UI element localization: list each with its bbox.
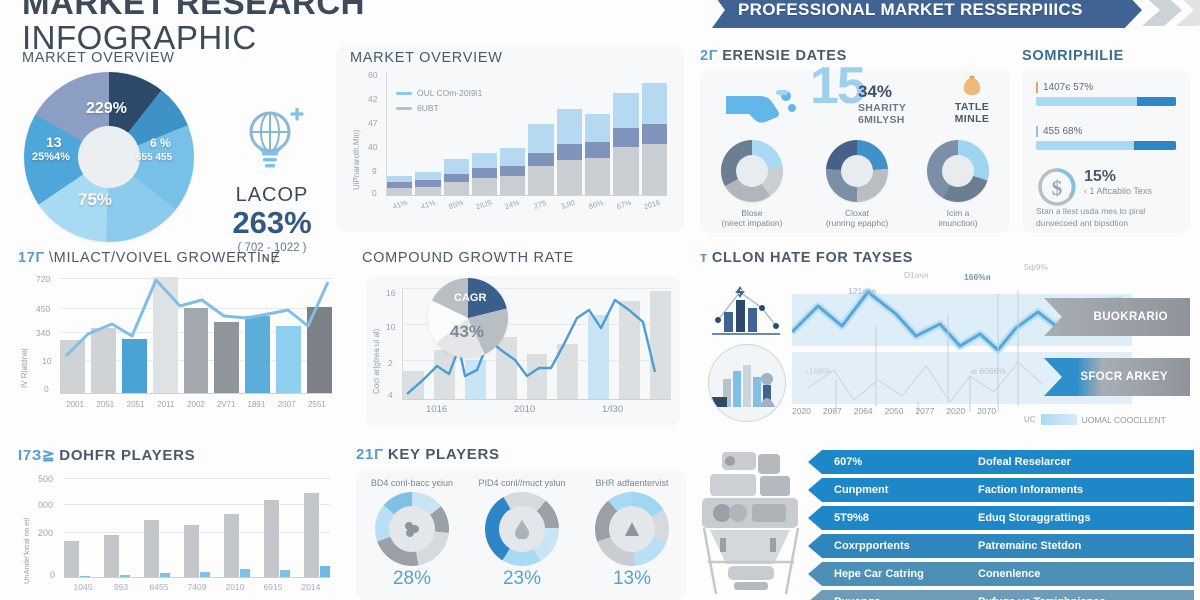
x-tick: 2551 — [302, 400, 332, 409]
donut-block: Blose (nirect impation) — [714, 140, 790, 228]
legend-label: UOMAL COOCLLENT — [1082, 415, 1166, 425]
section-title-prefix: 2Γ — [700, 48, 718, 64]
bar-grey — [224, 514, 239, 578]
section-title-prefix: 21Γ — [356, 446, 384, 463]
money-bag-icon — [962, 74, 982, 96]
x-tick: 2070 — [977, 406, 1008, 416]
progress-fill-accent — [1137, 97, 1176, 106]
x-tick: 2V71 — [211, 400, 241, 409]
bar-pair — [64, 478, 90, 578]
list-item-left: Coxrpportents — [808, 540, 978, 552]
section-title: 17Γ\MILACT/VOIVEL GROWERTIɴɆ — [18, 250, 338, 266]
legend: UC UOMAL COOCLLENT — [1024, 414, 1166, 425]
x-tick: 2020 — [946, 406, 977, 416]
donut-caption-2: (runring epaphc) — [814, 218, 900, 228]
market-overview-pie-panel: MARKET OVERVIEW 229% 6 % 655 455 13 25%4… — [22, 50, 332, 240]
section-title: тCLLON HATE FOR TAYSES — [700, 250, 1190, 266]
x-tick: 2011 — [151, 400, 181, 409]
badge-line-2: MINLE — [944, 113, 1000, 125]
trend-line — [60, 276, 332, 394]
somriphilie-panel: SOMRIPHILIE 1407є 57% 455 68% — [1022, 48, 1190, 233]
y-tick: 720 — [36, 274, 50, 284]
clion-rate-panel: тCLLON HATE FOR TAYSES — [700, 250, 1190, 430]
bar-pair — [224, 478, 250, 578]
arrow-bar: SFOCR ARKEY — [1044, 358, 1190, 396]
section-title: MARKET OVERVIEW — [350, 50, 503, 66]
cluster-icon — [402, 519, 422, 539]
list-item[interactable]: 607% Dofeal Reselarcer — [808, 450, 1194, 474]
gauge-block: PID4 conl//muct yslun 23% — [470, 478, 574, 590]
donut-caption-1: Cloxat — [814, 208, 900, 218]
annotation: 121аря — [848, 286, 876, 296]
demographics-card: 15 34% SHARITY 6MILYSH TATLE MINLE — [700, 70, 1010, 233]
bar-grey — [184, 525, 199, 578]
banner-shape: PROFESSIONAL MARKET RESSERPIIICS — [712, 0, 1142, 28]
pie-label: 25%4% — [32, 151, 70, 163]
x-axis: 2020 2087 2064 2050 2077 2020 2070 — [792, 406, 1008, 416]
bar-group — [585, 114, 610, 196]
x-tick: 2002 — [181, 400, 211, 409]
demographics-panel: 2ΓERENSIE DATES 15 34% SHARITY 6MILYSH — [700, 48, 1010, 233]
list-item-left: Cunpment — [808, 484, 978, 496]
y-tick: 450 — [36, 304, 50, 314]
bar-chart-circle-icon — [708, 344, 786, 422]
donut-hole — [736, 155, 768, 187]
y-tick: 4 — [388, 390, 393, 400]
x-axis: 2001 2051 2051 2011 2002 2V71 1891 2007 … — [60, 400, 332, 409]
x-tick: 275 — [525, 196, 554, 213]
section-title: 21ΓKEY PLAYERS — [356, 446, 686, 463]
x-tick: 2014 — [292, 582, 330, 592]
y-tick: 200 — [38, 528, 53, 538]
x-tick: 41% — [385, 196, 414, 213]
x-tick: 2050 — [885, 406, 916, 416]
y-tick: 0 — [44, 384, 49, 394]
annotation: ‹168% — [806, 366, 831, 376]
banner-title: PROFESSIONAL MARKET RESSERPIIICS — [712, 0, 1083, 20]
stacked-bar-chart: UiPnararoth.Min) 60 42 47 40 9 0 OUL COm… — [350, 72, 670, 222]
section-title: MARKET OVERVIEW — [22, 50, 332, 66]
dollar-stat: 15% ‹ 1 Aftcablio Texs — [1084, 168, 1152, 196]
x-tick: 41% — [413, 196, 442, 213]
progress-bar[interactable] — [1036, 141, 1176, 150]
bar-group — [472, 153, 497, 196]
bar-group — [613, 93, 638, 196]
x-tick: 6915 — [254, 582, 292, 592]
y-tick: 42 — [368, 94, 377, 104]
key-players-card: BD4 conl-bacc yєiun 28% PID4 conl//muct … — [356, 470, 686, 600]
y-tick: 0 — [372, 188, 377, 198]
donut-block: Cloxat (runring epaphc) — [814, 140, 900, 228]
y-tick: 2 — [388, 358, 393, 368]
y-tick: 340 — [36, 328, 50, 338]
list-item[interactable]: Cunpment Faction Inforaments — [808, 478, 1194, 502]
section-title-prefix: 17Γ — [18, 250, 45, 266]
pie-chart: 229% 6 % 655 455 13 25%4% 75% — [24, 72, 194, 242]
list-item-right: Pufuge ve Tarrighpianes — [978, 596, 1106, 600]
combo-chart: IV R|atdne| 720 450 340 10 0 — [18, 276, 338, 426]
note-line-1: Stan a llest usda mes to piral — [1036, 206, 1145, 216]
list-item-left: 607% — [808, 456, 978, 468]
bar-group — [444, 159, 469, 196]
y-tick: 000 — [38, 500, 53, 510]
x-tick: 1016 — [426, 404, 447, 415]
pie-center-hole — [78, 126, 140, 188]
x-axis-line — [60, 393, 332, 394]
triangle-icon — [623, 520, 641, 538]
gauge-block: BD4 conl-bacc yєiun 28% — [360, 478, 464, 590]
y-tick: 40 — [368, 142, 377, 152]
components-list-panel: 607% Dofeal Reselarcer Cunpment Faction … — [694, 444, 1194, 600]
lacop-stat: LACOP 263% ( 702 - 1022 ) — [207, 108, 337, 254]
arrow-bar-label: BUOKRARIO — [1093, 311, 1168, 323]
x-axis: 1045 993 6455 7409 2010 6915 2014 — [64, 582, 330, 592]
x-axis-line — [64, 577, 330, 578]
progress-bar[interactable] — [1036, 97, 1176, 106]
legend-prefix: UC — [1024, 415, 1036, 424]
hand-icon — [724, 80, 802, 133]
banner: PROFESSIONAL MARKET RESSERPIIICS — [690, 0, 1200, 34]
gauge-caption: BHR adfaentervist — [580, 478, 684, 488]
note-line-2: durwecoed ant bipsdtion — [1036, 218, 1128, 228]
key-players-panel: 21ΓKEY PLAYERS BD4 conl-bacc yєiun 28% P… — [356, 446, 686, 600]
donut-hole — [841, 155, 873, 187]
section-title-prefix: т — [700, 250, 708, 266]
arrow-bar-label: SFOCR ARKEY — [1080, 371, 1168, 383]
x-axis-line — [403, 399, 671, 400]
x-tick: 67% — [609, 196, 638, 213]
market-overview-bars-panel: MARKET OVERVIEW UiPnararoth.Min) 60 42 4… — [336, 46, 684, 232]
x-tick: 993 — [102, 582, 140, 592]
list-item-right: Conenlence — [978, 568, 1040, 580]
bar-group — [528, 124, 553, 196]
y-axis-title: UiPnararoth.Min) — [352, 130, 361, 190]
y-tick: 0 — [50, 570, 55, 580]
x-tick: 2020 — [792, 406, 823, 416]
gauge-ring[interactable] — [595, 492, 669, 566]
x-tick: 6455 — [140, 582, 178, 592]
x-tick: 2051 — [90, 400, 120, 409]
demographics-badge: TATLE MINLE — [944, 74, 1000, 125]
plot-area — [60, 276, 332, 394]
y-axis-title: UnAndeʺkxral no etl — [22, 518, 31, 584]
y-tick: 16 — [386, 288, 395, 298]
y-tick: 9 — [372, 166, 377, 176]
list-item-left: Puuangs — [808, 596, 978, 600]
stat-line-1: SHARITY — [858, 102, 906, 114]
progress-label: 1407є 57% — [1036, 82, 1176, 93]
svg-text:$: $ — [1052, 176, 1063, 200]
annotation: 5ф9% — [1024, 262, 1048, 272]
donut-hole — [942, 155, 974, 187]
network-bars-icon — [706, 278, 786, 345]
x-tick: 3JI0 — [553, 196, 582, 213]
bar-group — [415, 172, 440, 196]
gauge-ring[interactable] — [485, 492, 559, 566]
infographic-page: MARKET RESEARCH INFOGRAPHIC PROFESSIONAL… — [0, 0, 1200, 600]
machine-icon — [694, 444, 824, 600]
x-tick: 2016 — [637, 196, 666, 213]
donut-caption-1: Blose — [714, 208, 790, 218]
list-item[interactable]: Coxrpportents Patremainc Stetdon — [808, 534, 1194, 558]
section-title-text: \MILACT/VOIVEL GROWERTIɴɆ — [49, 250, 281, 266]
donut-block: Icim a imunction) — [918, 140, 998, 228]
section-title: I7З≧DOHFR PLAYERS — [18, 446, 338, 464]
bar-group — [642, 83, 667, 196]
donut-caption-1: Icim a — [918, 208, 998, 218]
drop-icon — [513, 519, 531, 539]
x-tick: 85% — [441, 196, 470, 213]
progress-fill-accent — [1134, 141, 1176, 150]
y-tick: 10 — [386, 322, 395, 332]
cagr-inset-pie: CAGR 43% — [428, 278, 508, 358]
list-item-right: Dofeal Reselarcer — [978, 456, 1071, 468]
bar-grey — [64, 541, 79, 578]
pie-label: 655 455 — [136, 152, 172, 163]
cagr-card: Coci ar|gtrea ul al) 16 10 2 4 — [366, 276, 680, 426]
pie-label: 229% — [86, 100, 127, 118]
gauge-block: BHR adfaentervist 13% — [580, 478, 684, 590]
section-title-text: CLLON HATE FOR TAYSES — [712, 250, 913, 266]
bar-grey — [144, 520, 159, 578]
x-tick: 2IUS — [469, 196, 498, 213]
stat-name: LACOP — [207, 184, 337, 207]
x-tick: 1/I30 — [602, 404, 623, 415]
x-tick: 2077 — [915, 406, 946, 416]
section-title: COMPOUND GROWTH RATE — [362, 250, 684, 266]
somriphilie-card: 1407є 57% 455 68% $ — [1022, 70, 1190, 233]
bar-group — [500, 148, 525, 196]
list-item[interactable]: 5T9%8 Eduq Storaggrattings — [808, 506, 1194, 530]
x-tick: 1045 — [64, 582, 102, 592]
clion-chart: D1ачя 121аря 166%я 5ф9% ‹168% ‹є 6066% 2… — [792, 270, 1190, 430]
inset-label: CAGR — [454, 292, 486, 304]
section-title-text: DOHFR PLAYERS — [59, 447, 195, 464]
x-tick: 86% — [581, 196, 610, 213]
x-tick: 1891 — [241, 400, 271, 409]
y-axis-title: Coci ar|gtrea ul al) — [372, 329, 381, 394]
progress-block: 1407є 57% — [1036, 82, 1176, 106]
section-title: SOMRIPHILIE — [1022, 48, 1190, 64]
donut-caption-2: (nirect impation) — [714, 218, 790, 228]
list-item-left: Hepe Car Catring — [808, 568, 978, 580]
bar-pair — [264, 478, 290, 578]
y-axis-title: IV R|atdne| — [20, 348, 29, 388]
plot-area — [64, 478, 330, 578]
list-item-right: Patremainc Stetdon — [978, 540, 1081, 552]
y-tick: 60 — [368, 70, 377, 80]
bar-grey — [304, 493, 319, 578]
gauge-ring[interactable] — [375, 492, 449, 566]
list-item-left: 5T9%8 — [808, 512, 978, 524]
section-title-text: KEY PLAYERS — [388, 446, 500, 463]
x-axis: 41% 41% 85% 2IUS 24% 275 3JI0 86% 67% 20… — [386, 200, 666, 209]
arrow-bar: BUOKRARIO — [1044, 298, 1190, 336]
dohfr-players-panel: I7З≧DOHFR PLAYERS UnAndeʺkxral no etl 50… — [18, 446, 338, 600]
pie-label: 6 % — [150, 136, 171, 150]
pie-label: 13 — [46, 134, 62, 150]
donut-chart — [826, 140, 888, 202]
donut-caption-2: imunction) — [918, 218, 998, 228]
x-tick: 2010 — [216, 582, 254, 592]
annotation: 166%я — [964, 272, 991, 282]
annual-growth-panel: 17Γ\MILACT/VOIVEL GROWERTIɴɆ IV R|atdne|… — [18, 250, 338, 430]
x-tick: 2010 — [514, 404, 535, 415]
list-item-right: Eduq Storaggrattings — [978, 512, 1090, 524]
list-item-right: Faction Inforaments — [978, 484, 1083, 496]
annotation: ‹є 6066% — [970, 366, 1006, 376]
title-line-1: MARKET RESEARCH — [22, 0, 365, 21]
lightbulb-globe-icon — [240, 108, 304, 178]
x-tick: 24% — [497, 196, 526, 213]
bar-group — [557, 109, 582, 196]
legend-swatch — [1041, 414, 1077, 425]
x-tick: 2051 — [120, 400, 150, 409]
bar-grey — [104, 535, 119, 578]
annotation: D1ачя — [904, 270, 928, 280]
x-tick: 2087 — [823, 406, 854, 416]
section-title-prefix: I7З≧ — [18, 447, 55, 464]
progress-block: 455 68% — [1036, 126, 1176, 150]
chevron-icon — [1142, 0, 1182, 26]
gauge-value: 28% — [360, 568, 464, 590]
bar-pair — [144, 478, 170, 578]
y-tick: 47 — [368, 118, 377, 128]
page-title: MARKET RESEARCH INFOGRAPHIC — [22, 0, 365, 55]
dohfr-chart: UnAndeʺkxral no etl 500 000 200 0 — [18, 472, 338, 600]
gauge-caption: BD4 conl-bacc yєiun — [360, 478, 464, 488]
list-item[interactable]: Puuangs Pufuge ve Tarrighpianes — [808, 590, 1194, 600]
pie-label: 75% — [78, 190, 112, 210]
x-tick: 2007 — [272, 400, 302, 409]
x-axis-line — [387, 195, 667, 196]
demographics-stat: 34% SHARITY 6MILYSH — [858, 82, 906, 126]
bar-group — [387, 176, 412, 196]
y-tick: 10 — [42, 356, 51, 366]
stat-line-2: 6MILYSH — [858, 114, 906, 126]
gauge-caption: PID4 conl//muct yslun — [470, 478, 574, 488]
gauge-value: 23% — [470, 568, 574, 590]
bar-pair — [304, 478, 330, 578]
gauge-value: 13% — [580, 568, 684, 590]
cagr-panel: COMPOUND GROWTH RATE Coci ar|gtrea ul al… — [362, 250, 684, 430]
chevron-icon — [1176, 0, 1200, 26]
plot-area — [386, 72, 666, 196]
stat-percent: 34% — [858, 82, 906, 102]
bar-pair — [184, 478, 210, 578]
bar-grey — [264, 500, 279, 578]
x-tick: 7409 — [178, 582, 216, 592]
demographics-big-number: 15 — [810, 56, 864, 116]
x-tick: 2001 — [60, 400, 90, 409]
progress-label: 455 68% — [1036, 126, 1176, 137]
list-item[interactable]: Hepe Car Catring Conenlence — [808, 562, 1194, 586]
badge-line-1: TATLE — [944, 101, 1000, 113]
donut-chart — [927, 140, 989, 202]
stat-value: 263% — [207, 207, 337, 240]
y-tick: 500 — [38, 474, 53, 484]
bar-pair — [104, 478, 130, 578]
dollar-value: 15% — [1084, 168, 1152, 186]
x-tick: 2064 — [854, 406, 885, 416]
donut-chart — [721, 140, 783, 202]
dollar-sub: ‹ 1 Aftcablio Texs — [1084, 186, 1152, 196]
inset-value: 43% — [450, 322, 484, 342]
